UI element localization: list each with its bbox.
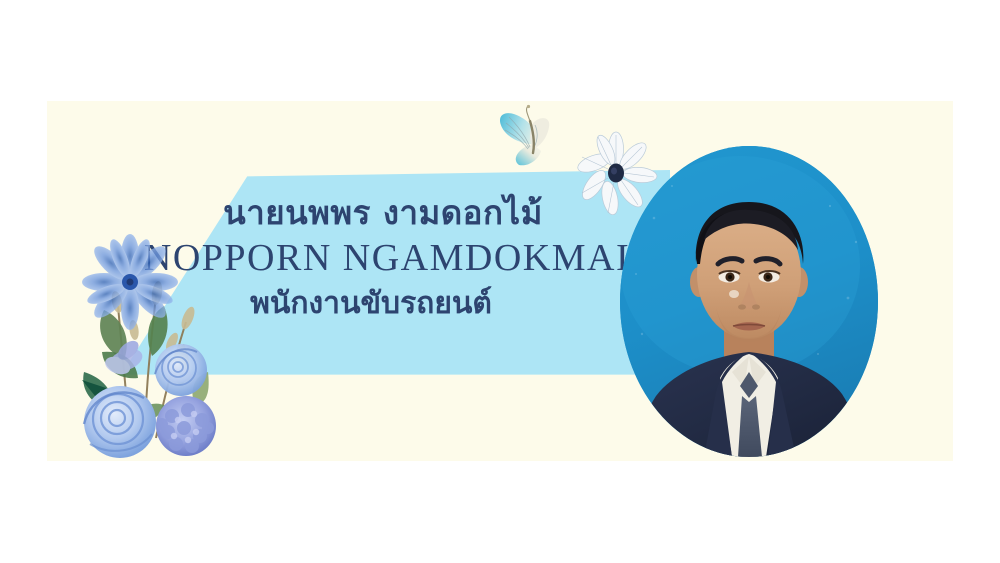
employee-portrait-photo [620, 146, 878, 457]
slide-canvas: นายนพพร งามดอกไม้ NOPPORN NGAMDOKMAI พนั… [0, 0, 1000, 563]
